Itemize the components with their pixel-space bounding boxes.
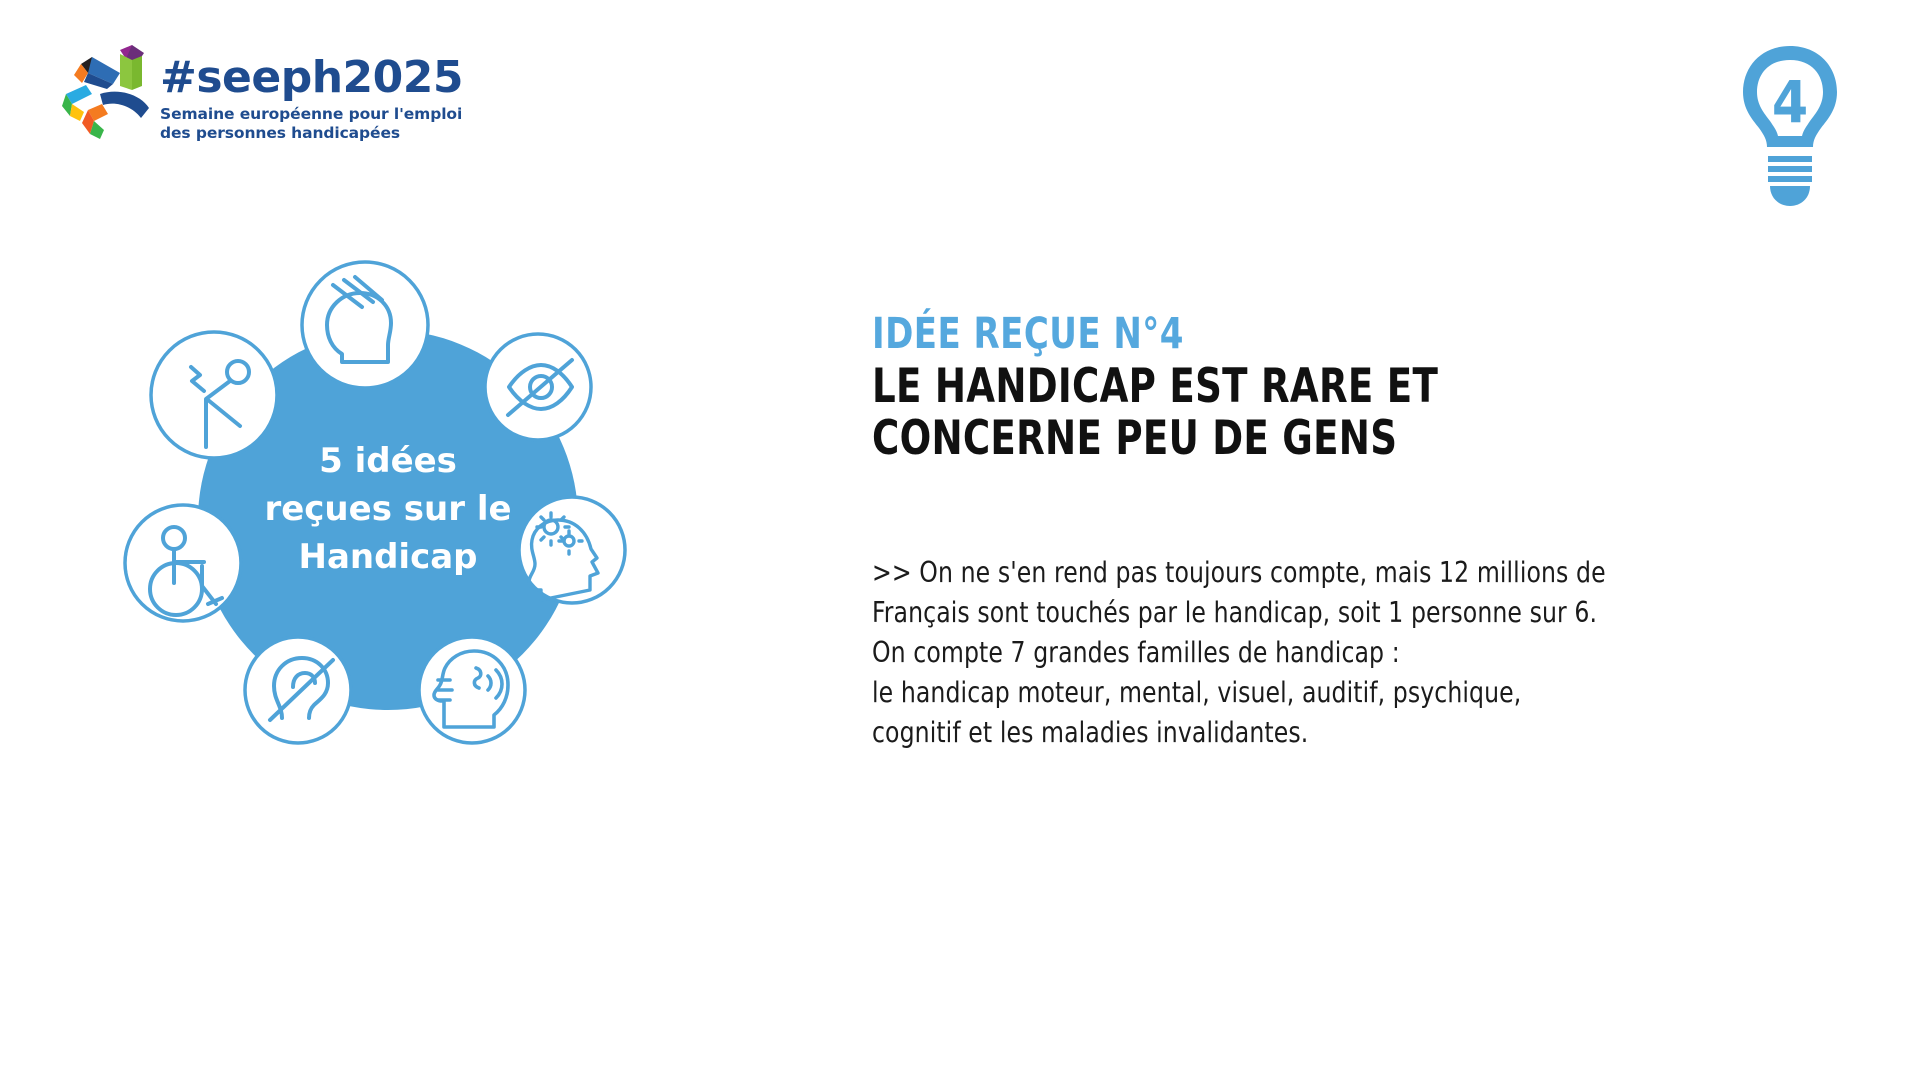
seeph-tagline: Semaine européenne pour l'emploi des per… (160, 105, 463, 143)
seeph-logo: #seeph2025 Semaine européenne pour l'emp… (58, 42, 463, 143)
content-column: IDÉE REÇUE N°4 LE HANDICAP EST RARE ET C… (872, 310, 1802, 753)
center-label-line2: reçues sur le (264, 489, 511, 529)
body-copy: >> On ne s'en rend pas toujours compte, … (872, 553, 1728, 753)
icon-bubble-speech-profile[interactable] (419, 637, 525, 743)
icon-bubble-wheelchair[interactable] (125, 505, 241, 621)
seeph-tagline-line2: des personnes handicapées (160, 124, 463, 143)
icon-bubble-eye-crossed[interactable] (485, 334, 591, 440)
badge-number: 4 (1772, 68, 1808, 136)
body-line-5: cognitif et les maladies invalidantes. (872, 713, 1728, 753)
kicker-idee-recue: IDÉE REÇUE N°4 (872, 310, 1690, 359)
body-line-3: On compte 7 grandes familles de handicap… (872, 633, 1728, 673)
seeph-logo-text: #seeph2025 Semaine européenne pour l'emp… (160, 42, 463, 143)
body-line-2: Français sont touchés par le handicap, s… (872, 593, 1728, 633)
handicap-wheel-diagram: 5 idées reçues sur le Handicap (120, 250, 660, 770)
icon-bubble-ear-crossed[interactable] (245, 637, 351, 743)
lightbulb-badge: 4 (1735, 40, 1845, 215)
body-line-4: le handicap moteur, mental, visuel, audi… (872, 673, 1728, 713)
center-label-line1: 5 idées (319, 441, 457, 481)
seeph-tagline-line1: Semaine européenne pour l'emploi (160, 105, 463, 124)
seeph-logo-mark-icon (58, 42, 150, 142)
icon-bubble-head-gears[interactable] (519, 497, 625, 603)
slide-root: #seeph2025 Semaine européenne pour l'emp… (0, 0, 1920, 1080)
seeph-hashtag: #seeph2025 (160, 54, 463, 102)
icon-bubble-person-falling[interactable] (151, 332, 277, 458)
headline-line2: CONCERNE PEU DE GENS (872, 413, 1690, 465)
headline-line1: LE HANDICAP EST RARE ET (872, 361, 1690, 413)
page-title: LE HANDICAP EST RARE ET CONCERNE PEU DE … (872, 361, 1690, 465)
body-line-1: >> On ne s'en rend pas toujours compte, … (872, 553, 1728, 593)
center-label-line3: Handicap (298, 537, 477, 577)
icon-bubble-head-psychic[interactable] (302, 262, 428, 388)
